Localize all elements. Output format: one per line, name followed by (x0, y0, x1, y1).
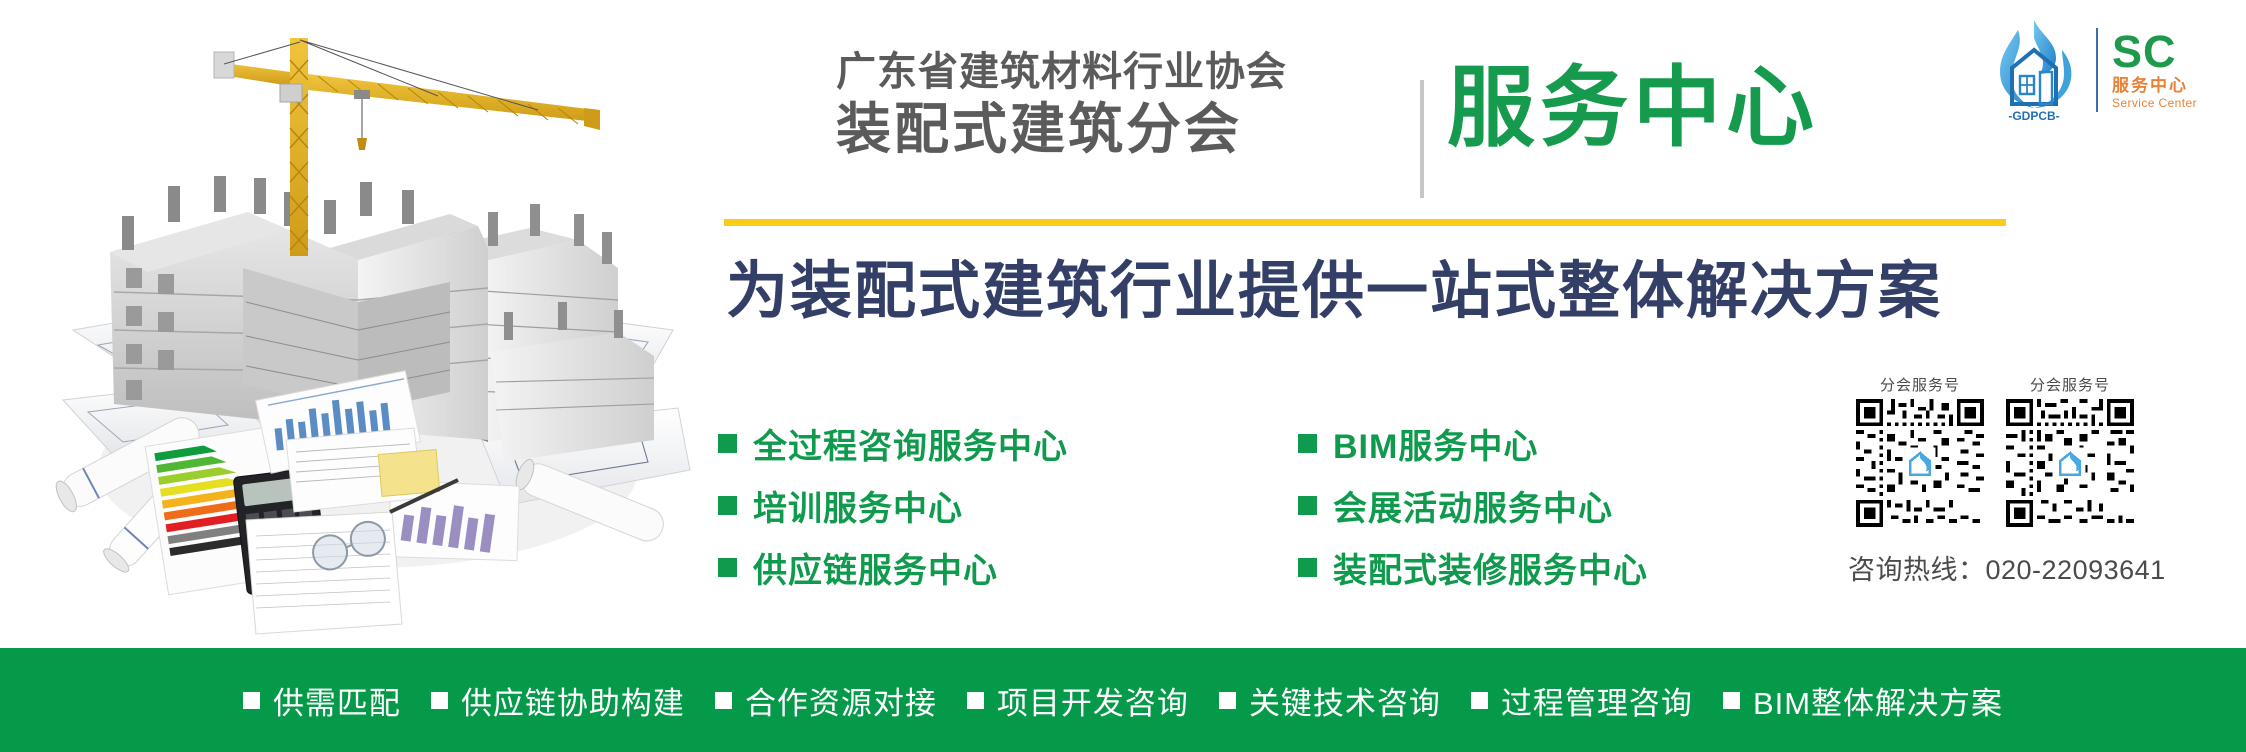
association-name-line2: 装配式建筑分会 (836, 102, 1416, 157)
qr-caption: 分会服务号 (1856, 378, 1984, 393)
sticky-note (378, 450, 439, 497)
qr-cell: 分会服务号 (2006, 378, 2134, 527)
service-list-right: BIM服务中心 会展活动服务中心 装配式装修服务中心 (1298, 412, 1648, 598)
service-label: 装配式装修服务中心 (1333, 543, 1648, 592)
list-item[interactable]: 关键技术咨询 (1219, 678, 1441, 723)
capability-label: BIM整体解决方案 (1753, 678, 2003, 723)
bottom-capability-bar: 供需匹配 供应链协助构建 合作资源对接 项目开发咨询 关键技术咨询 过程管理咨询 (0, 648, 2246, 752)
service-list-left: 全过程咨询服务中心 培训服务中心 供应链服务中心 (718, 412, 1068, 598)
logo-chinese-label: 服务中心 (2112, 77, 2197, 94)
hotline-text: 咨询热线：020-22093641 (1848, 548, 2166, 587)
service-label: BIM服务中心 (1333, 419, 1538, 468)
list-item[interactable]: 装配式装修服务中心 (1298, 536, 1648, 598)
square-bullet-icon (718, 558, 737, 577)
list-item[interactable]: 会展活动服务中心 (1298, 474, 1648, 536)
square-bullet-icon (967, 692, 984, 709)
square-bullet-icon (1219, 692, 1236, 709)
capability-label: 供应链协助构建 (461, 678, 685, 723)
service-label: 全过程咨询服务中心 (753, 419, 1068, 468)
logo-text-block: SC 服务中心 Service Center (2112, 31, 2197, 109)
capability-label: 过程管理咨询 (1501, 678, 1693, 723)
logo-divider (2096, 28, 2098, 112)
list-item[interactable]: 过程管理咨询 (1471, 678, 1693, 723)
service-label: 培训服务中心 (753, 481, 963, 530)
list-item[interactable]: 项目开发咨询 (967, 678, 1189, 723)
list-item[interactable]: 合作资源对接 (715, 678, 937, 723)
square-bullet-icon (1471, 692, 1488, 709)
list-item[interactable]: BIM服务中心 (1298, 412, 1648, 474)
gold-horizontal-rule (724, 219, 2006, 226)
service-center-heading: 服务中心 (1447, 60, 1819, 157)
capability-label: 供需匹配 (273, 678, 401, 723)
qr-code-image-1[interactable] (1856, 399, 1984, 527)
square-bullet-icon (718, 496, 737, 515)
square-bullet-icon (718, 434, 737, 453)
association-name-line1: 广东省建筑材料行业协会 (836, 52, 1416, 92)
qr-cell: 分会服务号 (1856, 378, 1984, 527)
brand-logo: -GDPCB- SC 服务中心 Service Center (1978, 14, 2236, 126)
list-item[interactable]: 供需匹配 (243, 678, 401, 723)
list-item[interactable]: 培训服务中心 (718, 474, 1068, 536)
qr-code-image-2[interactable] (2006, 399, 2134, 527)
service-label: 会展活动服务中心 (1333, 481, 1613, 530)
qr-caption: 分会服务号 (2006, 378, 2134, 393)
square-bullet-icon (1723, 692, 1740, 709)
list-item[interactable]: BIM整体解决方案 (1723, 678, 2003, 723)
construction-illustration-svg (18, 0, 698, 648)
square-bullet-icon (243, 692, 260, 709)
association-title-block: 广东省建筑材料行业协会 装配式建筑分会 (836, 52, 1416, 157)
capability-label: 关键技术咨询 (1249, 678, 1441, 723)
list-item[interactable]: 供应链服务中心 (718, 536, 1068, 598)
construction-hero-image (18, 0, 698, 648)
logo-mark-wordmark: -GDPCB- (2008, 109, 2059, 123)
list-item[interactable]: 供应链协助构建 (431, 678, 685, 723)
capability-label: 项目开发咨询 (997, 678, 1189, 723)
square-bullet-icon (1298, 434, 1317, 453)
square-bullet-icon (431, 692, 448, 709)
title-vertical-divider (1420, 80, 1424, 198)
square-bullet-icon (715, 692, 732, 709)
gdpcb-house-flame-logo-icon: -GDPCB- (1978, 16, 2090, 124)
page-title: 为装配式建筑行业提供一站式整体解决方案 (726, 256, 1942, 327)
service-label: 供应链服务中心 (753, 543, 998, 592)
list-item[interactable]: 全过程咨询服务中心 (718, 412, 1068, 474)
promo-banner: 广东省建筑材料行业协会 装配式建筑分会 服务中心 为装配式建筑行业提供一站式整体… (0, 0, 2246, 752)
capability-label: 合作资源对接 (745, 678, 937, 723)
square-bullet-icon (1298, 496, 1317, 515)
logo-sc-abbrev: SC (2112, 31, 2197, 74)
square-bullet-icon (1298, 558, 1317, 577)
qr-code-area: 分会服务号 (1856, 378, 2156, 527)
logo-english-label: Service Center (2112, 97, 2197, 109)
